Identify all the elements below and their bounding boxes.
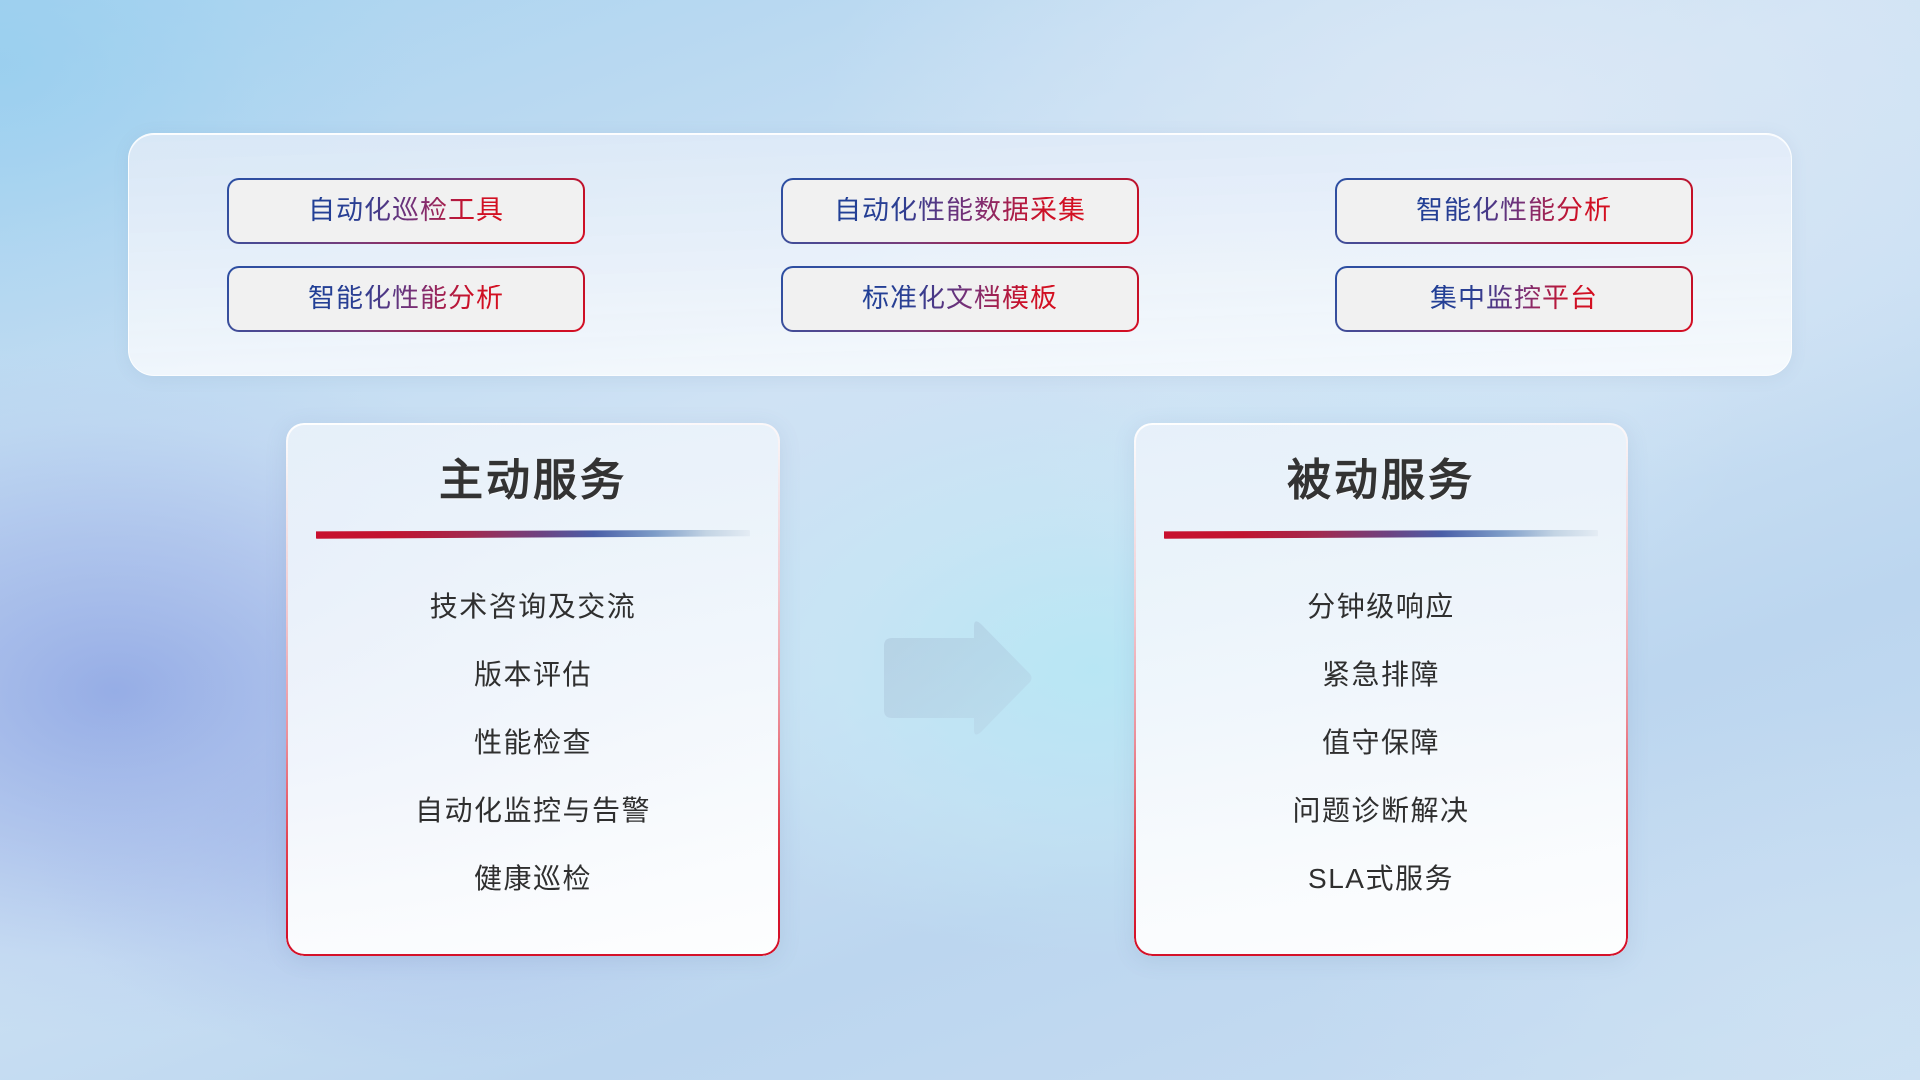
- capability-pill-label: 集中监控平台: [1430, 285, 1598, 312]
- capability-panel: 自动化巡检工具 自动化性能数据采集 智能化性能分析 智能化性能分析: [128, 133, 1792, 376]
- capability-pill-intelligent-performance-analysis-2[interactable]: 智能化性能分析: [227, 266, 585, 332]
- capability-pill-automated-performance-data-collection[interactable]: 自动化性能数据采集: [781, 178, 1139, 244]
- right-arrow-icon: [878, 620, 1036, 736]
- title-divider: [316, 530, 750, 539]
- service-card-title: 被动服务: [1287, 455, 1475, 508]
- capability-cell: 集中监控平台: [1334, 266, 1694, 332]
- capability-cell: 自动化巡检工具: [226, 178, 586, 244]
- service-item[interactable]: SLA式服务: [1308, 845, 1454, 913]
- capability-pill-standardized-document-template[interactable]: 标准化文档模板: [781, 266, 1139, 332]
- title-divider: [1164, 530, 1598, 539]
- capability-pill-label: 智能化性能分析: [1416, 197, 1612, 224]
- capability-cell: 自动化性能数据采集: [780, 178, 1140, 244]
- capability-pill-automated-inspection-tool[interactable]: 自动化巡检工具: [227, 178, 585, 244]
- capability-row-1: 自动化巡检工具 自动化性能数据采集 智能化性能分析: [129, 167, 1791, 255]
- capability-pill-label: 自动化性能数据采集: [834, 197, 1086, 224]
- service-item-list: 技术咨询及交流 版本评估 性能检查 自动化监控与告警 健康巡检: [286, 573, 780, 913]
- service-card-title: 主动服务: [439, 455, 627, 508]
- service-item[interactable]: 版本评估: [474, 641, 592, 709]
- service-item[interactable]: 问题诊断解决: [1292, 777, 1469, 845]
- service-card-active[interactable]: 主动服务 技术咨询及交流 版本评估 性能检查 自动化监控与告警 健康巡检: [286, 423, 780, 956]
- service-item[interactable]: 自动化监控与告警: [415, 777, 651, 845]
- service-card-passive[interactable]: 被动服务 分钟级响应 紧急排障 值守保障 问题诊断解决 SLA式服务: [1134, 423, 1628, 956]
- service-item[interactable]: 技术咨询及交流: [430, 573, 637, 641]
- capability-cell: 智能化性能分析: [226, 266, 586, 332]
- service-item[interactable]: 紧急排障: [1322, 641, 1440, 709]
- service-card-body: 主动服务 技术咨询及交流 版本评估 性能检查 自动化监控与告警 健康巡检: [286, 423, 780, 956]
- capability-pill-label: 自动化巡检工具: [308, 197, 504, 224]
- service-item[interactable]: 值守保障: [1322, 709, 1440, 777]
- capability-pill-intelligent-performance-analysis-1[interactable]: 智能化性能分析: [1335, 178, 1693, 244]
- service-card-body: 被动服务 分钟级响应 紧急排障 值守保障 问题诊断解决 SLA式服务: [1134, 423, 1628, 956]
- capability-pill-centralized-monitoring-platform[interactable]: 集中监控平台: [1335, 266, 1693, 332]
- service-item[interactable]: 健康巡检: [474, 845, 592, 913]
- capability-row-2: 智能化性能分析 标准化文档模板 集中监控平台: [129, 255, 1791, 343]
- service-item-list: 分钟级响应 紧急排障 值守保障 问题诊断解决 SLA式服务: [1134, 573, 1628, 913]
- capability-cell: 智能化性能分析: [1334, 178, 1694, 244]
- service-item[interactable]: 性能检查: [474, 709, 592, 777]
- capability-pill-label: 标准化文档模板: [862, 285, 1058, 312]
- capability-pill-label: 智能化性能分析: [308, 285, 504, 312]
- service-item[interactable]: 分钟级响应: [1307, 573, 1455, 641]
- capability-cell: 标准化文档模板: [780, 266, 1140, 332]
- slide-canvas: 自动化巡检工具 自动化性能数据采集 智能化性能分析 智能化性能分析: [0, 0, 1920, 1080]
